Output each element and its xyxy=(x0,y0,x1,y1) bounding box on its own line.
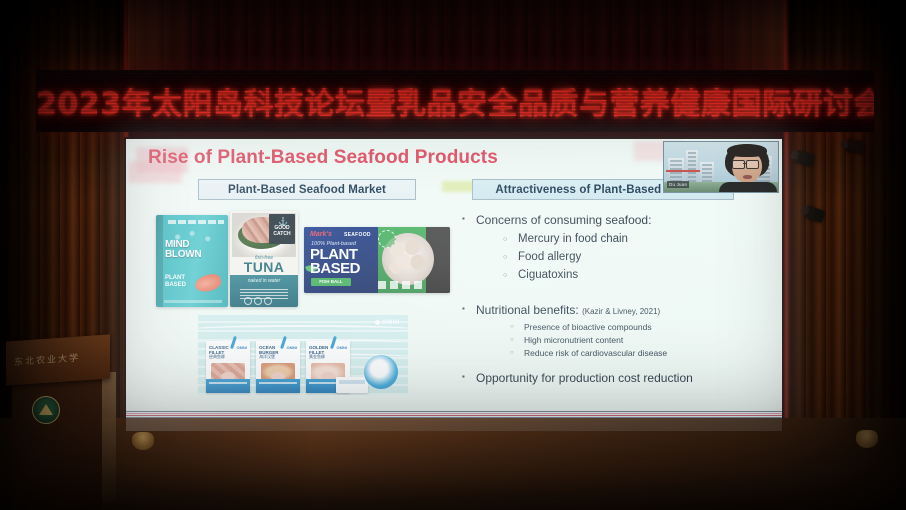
product-package-good-catch-tuna: ⚓ GOODCATCH fish-free TUNA naked in wate… xyxy=(230,211,298,307)
led-banner-text: 2023年太阳岛科技论坛暨乳品安全品质与营养健康国际研讨会 xyxy=(36,79,874,123)
eyeglasses-icon xyxy=(732,160,745,169)
package-brand-line xyxy=(168,220,224,224)
sub-bullet-food-allergy: Food allergy xyxy=(518,251,581,263)
podium-nameplate: 东北农业大学 xyxy=(6,334,110,385)
curtain-tassel xyxy=(856,430,878,448)
sub-bullet-micronutrient: High micronutrient content xyxy=(524,335,623,345)
sub-bullet-cardiovascular: Reduce risk of cardiovascular disease xyxy=(524,348,667,358)
bullet-citation: (Kazir & Livney, 2021) xyxy=(582,307,660,316)
bullet-nutritional-benefits: Nutritional benefits: (Kazir & Livney, 2… xyxy=(476,303,660,317)
university-emblem-icon xyxy=(32,396,60,424)
omni-disc-package xyxy=(364,355,398,389)
projection-screen: Rise of Plant-Based Seafood Products Pla… xyxy=(126,139,782,431)
omni-logo: OMNI xyxy=(375,320,400,326)
good-catch-badge: ⚓ GOODCATCH xyxy=(269,214,295,244)
led-banner: 2023年太阳岛科技论坛暨乳品安全品质与营养健康国际研讨会 xyxy=(36,70,874,132)
package-brand-marks: Mark's xyxy=(310,231,332,238)
presentation-slide: Rise of Plant-Based Seafood Products Pla… xyxy=(126,139,782,431)
sub-bullet-bioactive: Presence of bioactive compounds xyxy=(524,322,652,332)
product-package-plant-based-fishball: Mark's SEAFOOD 100% Plant-based PLANT BA… xyxy=(304,227,450,293)
package-variety-chip: FISH BALL xyxy=(311,278,351,286)
lectern-podium: 东北农业大学 xyxy=(6,338,116,510)
package-name-based: BASED xyxy=(310,262,360,276)
product-photo-row: MINDBLOWN PLANTBASED ⚓ GOODCATCH fish-fr… xyxy=(154,211,454,307)
podium-institution-text: 东北农业大学 xyxy=(14,350,80,368)
curtain-tassel xyxy=(132,432,154,450)
package-name-tuna: TUNA xyxy=(230,259,298,275)
webcam-thumbnail[interactable]: Du Juan xyxy=(663,141,779,193)
package-brand-seafood: SEAFOOD xyxy=(344,232,371,238)
package-subtitle: naked in water xyxy=(230,278,298,284)
slide-title: Rise of Plant-Based Seafood Products xyxy=(148,147,498,169)
sub-bullet-ciguatoxins: Ciguatoxins xyxy=(518,269,578,281)
package-seal-badge xyxy=(378,230,396,248)
omni-package-ocean-burger: OCEANBURGER 海洋汉堡 OMNI xyxy=(256,341,300,393)
bullet-cost-reduction: Opportunity for production cost reductio… xyxy=(476,371,693,385)
package-descriptor: PLANTBASED xyxy=(165,275,186,288)
omni-pouch-package xyxy=(336,377,368,393)
bullet-nutritional-text: Nutritional benefits: xyxy=(476,303,579,317)
bullet-concerns: Concerns of consuming seafood: xyxy=(476,213,651,227)
shrimp-illustration xyxy=(194,272,223,293)
auditorium-stage-scene: 2023年太阳岛科技论坛暨乳品安全品质与营养健康国际研讨会 Rise of Pl… xyxy=(0,0,906,510)
section-header-market: Plant-Based Seafood Market xyxy=(198,179,416,200)
product-photo-omni-range: OMNI CLASSICFILLET 经典鱼柳 OMNI OCEANBURGER… xyxy=(198,315,408,395)
omni-package-classic-fillet: CLASSICFILLET 经典鱼柳 OMNI xyxy=(206,341,250,393)
product-package-mind-blown: MINDBLOWN PLANTBASED xyxy=(156,215,228,307)
eyeglasses-icon xyxy=(746,160,759,169)
sub-bullet-mercury: Mercury in food chain xyxy=(518,233,628,245)
webcam-name-label: Du Juan xyxy=(667,181,689,188)
package-name-mind-blown: MINDBLOWN xyxy=(165,240,223,260)
speaker-avatar xyxy=(717,142,779,192)
